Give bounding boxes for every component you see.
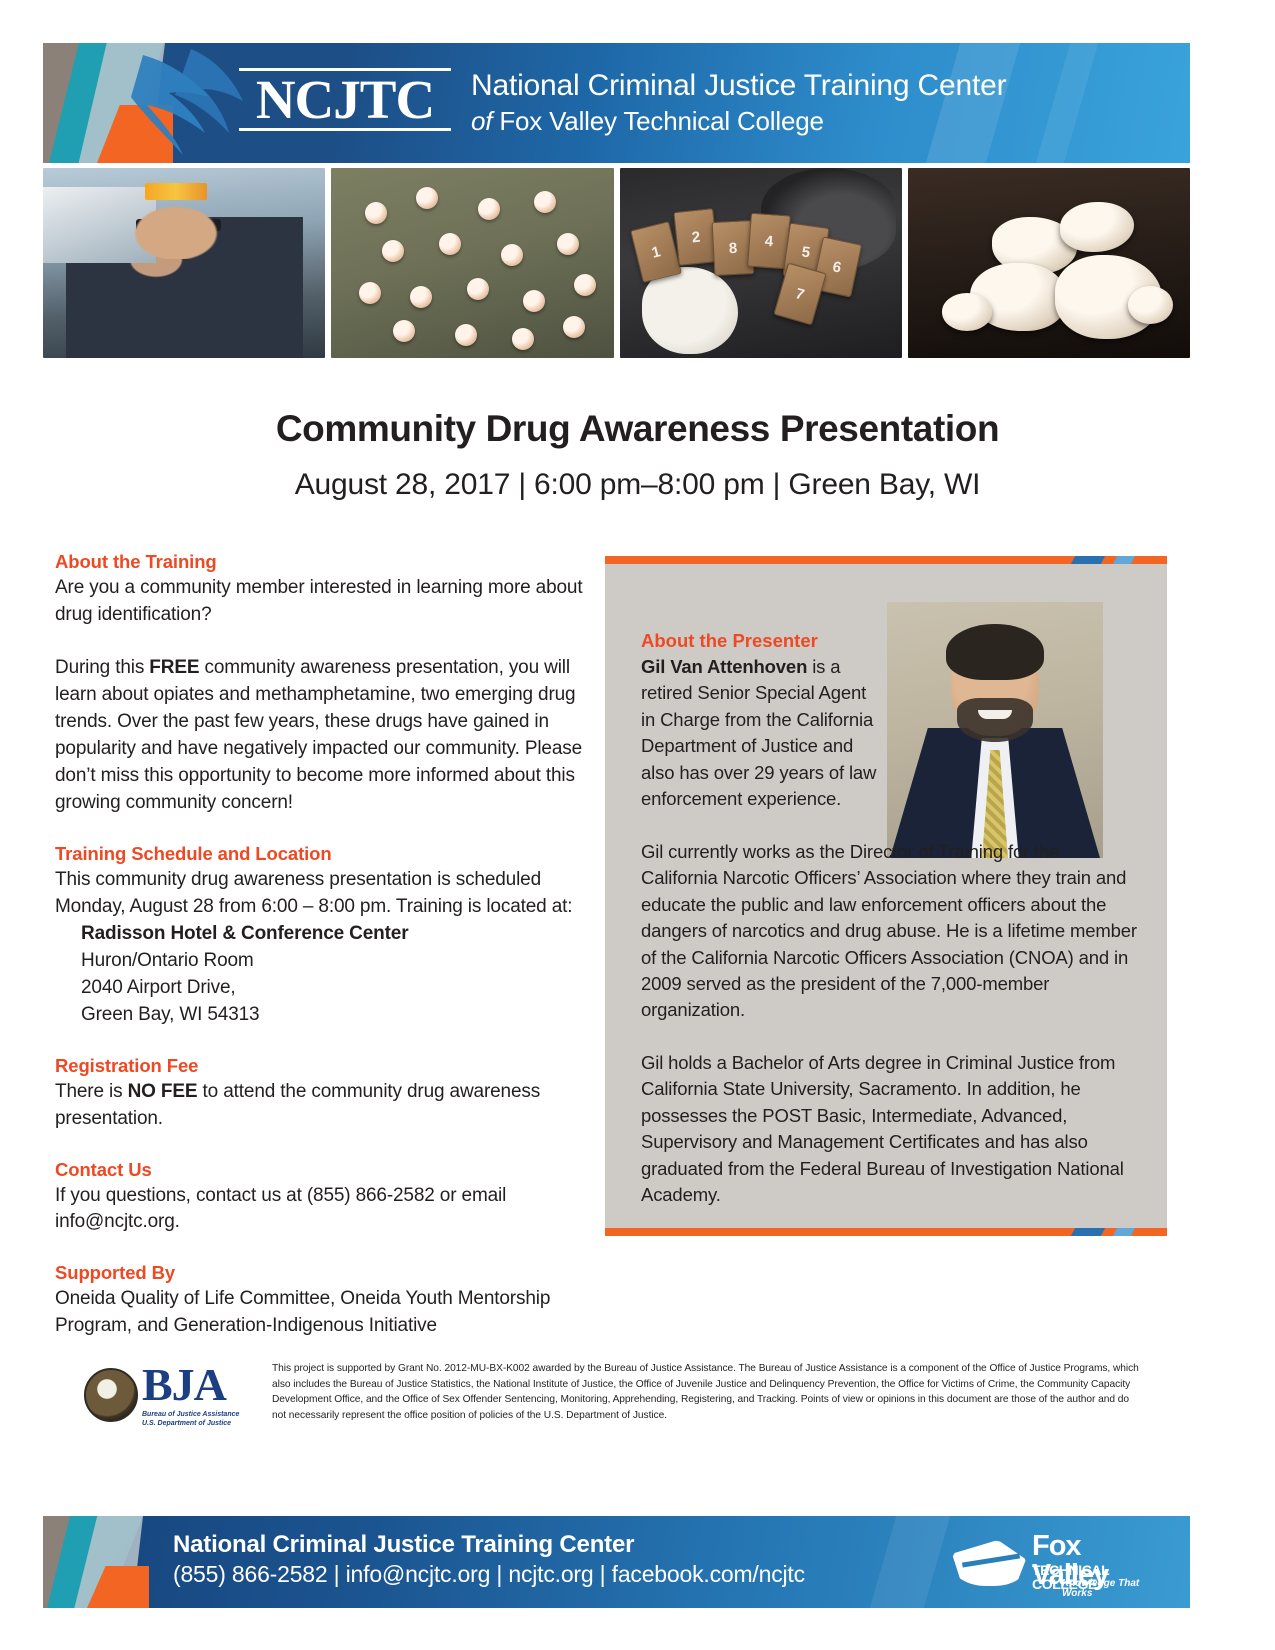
presenter-paragraph-2: Gil currently works as the Director of T… — [641, 839, 1139, 1024]
supported-by-heading: Supported By — [55, 1262, 595, 1284]
fox-valley-logo: Fox Valley TECHNICAL COLLEGE Knowledge T… — [952, 1532, 1162, 1594]
sunglasses — [136, 219, 221, 230]
schedule-paragraph: This community drug awareness presentati… — [55, 867, 595, 921]
venue-city-state-zip: Green Bay, WI 54313 — [81, 1002, 595, 1029]
page-title: Community Drug Awareness Presentation — [0, 408, 1275, 450]
footer-text-block: National Criminal Justice Training Cente… — [173, 1530, 805, 1590]
left-column: About the Training Are you a community m… — [55, 551, 595, 1340]
no-fee-emphasis: NO FEE — [128, 1081, 198, 1102]
supported-by-paragraph: Oneida Quality of Life Committee, Oneida… — [55, 1286, 595, 1340]
header-org-line1: National Criminal Justice Training Cente… — [471, 67, 1006, 105]
venue-street: 2040 Airport Drive, — [81, 975, 595, 1002]
venue-room: Huron/Ontario Room — [81, 948, 595, 975]
venue-address: Radisson Hotel & Conference Center Huron… — [81, 921, 595, 1029]
free-text-before: During this — [55, 657, 149, 678]
footer-banner: National Criminal Justice Training Cente… — [43, 1516, 1190, 1608]
pills-photo — [331, 168, 613, 358]
footer-stripe — [870, 1516, 950, 1608]
photo-strip: 1 2 8 4 5 6 7 — [43, 168, 1190, 358]
contact-us-paragraph: If you questions, contact us at (855) 86… — [55, 1183, 595, 1237]
header-org-line2: of Fox Valley Technical College — [471, 105, 1006, 138]
about-training-heading: About the Training — [55, 551, 595, 573]
bja-subtitle: Bureau of Justice Assistance U.S. Depart… — [142, 1410, 239, 1429]
footer-contact-line[interactable]: (855) 866-2582 | info@ncjtc.org | ncjtc.… — [173, 1560, 805, 1590]
bja-subtitle-line1: Bureau of Justice Assistance — [142, 1410, 239, 1419]
bja-acronym: BJA — [142, 1362, 226, 1408]
contact-us-heading: Contact Us — [55, 1159, 595, 1181]
latex-glove — [642, 267, 738, 354]
header-org-college: Fox Valley Technical College — [499, 106, 823, 136]
free-emphasis: FREE — [149, 657, 199, 678]
police-officer-photo — [43, 168, 325, 358]
grant-disclaimer: This project is supported by Grant No. 2… — [272, 1361, 1142, 1423]
presenter-text-block: About the Presenter Gil Van Attenhoven i… — [641, 630, 1139, 1209]
free-text-after: community awareness presentation, you wi… — [55, 657, 582, 813]
schedule-heading: Training Schedule and Location — [55, 843, 595, 865]
panel-top-accent-bar — [605, 556, 1167, 564]
about-presenter-heading: About the Presenter — [641, 630, 1139, 652]
registration-fee-paragraph: There is NO FEE to attend the community … — [55, 1079, 595, 1133]
footer-org-name: National Criminal Justice Training Cente… — [173, 1530, 805, 1560]
ncjtc-acronym: NCJTC — [239, 68, 451, 131]
fvtc-tagline: Knowledge That Works — [1062, 1579, 1162, 1599]
bja-subtitle-line2: U.S. Department of Justice — [142, 1419, 239, 1428]
presenter-name: Gil Van Attenhoven — [641, 656, 807, 677]
patrol-car — [43, 187, 156, 263]
presenter-intro-paragraph: Gil Van Attenhoven is a retired Senior S… — [641, 654, 877, 813]
bja-logo: BJA Bureau of Justice Assistance U.S. De… — [84, 1364, 254, 1430]
presenter-intro-rest: is a retired Senior Special Agent in Cha… — [641, 656, 876, 809]
light-bar — [145, 183, 207, 200]
drug-packets-photo: 1 2 8 4 5 6 7 — [620, 168, 902, 358]
presenter-panel: About the Presenter Gil Van Attenhoven i… — [605, 556, 1167, 1236]
about-training-paragraph-2: During this FREE community awareness pre… — [55, 655, 595, 817]
presenter-paragraph-3: Gil holds a Bachelor of Arts degree in C… — [641, 1050, 1139, 1209]
about-training-paragraph-1: Are you a community member interested in… — [55, 575, 595, 629]
fee-text-before: There is — [55, 1081, 128, 1102]
panel-bottom-accent-bar — [605, 1228, 1167, 1236]
header-stripe-two — [1036, 43, 1098, 163]
header-org-text: National Criminal Justice Training Cente… — [471, 67, 1006, 137]
registration-fee-heading: Registration Fee — [55, 1055, 595, 1077]
page-subtitle: August 28, 2017 | 6:00 pm–8:00 pm | Gree… — [0, 468, 1275, 502]
doj-seal-icon — [84, 1368, 138, 1422]
ncjtc-logo: NCJTC — [239, 68, 451, 131]
venue-name: Radisson Hotel & Conference Center — [81, 921, 595, 948]
meth-rocks-photo — [908, 168, 1190, 358]
header-banner: NCJTC National Criminal Justice Training… — [43, 43, 1190, 163]
header-org-of: of — [471, 106, 492, 136]
flyer-page: NCJTC National Criminal Justice Training… — [0, 0, 1275, 1650]
